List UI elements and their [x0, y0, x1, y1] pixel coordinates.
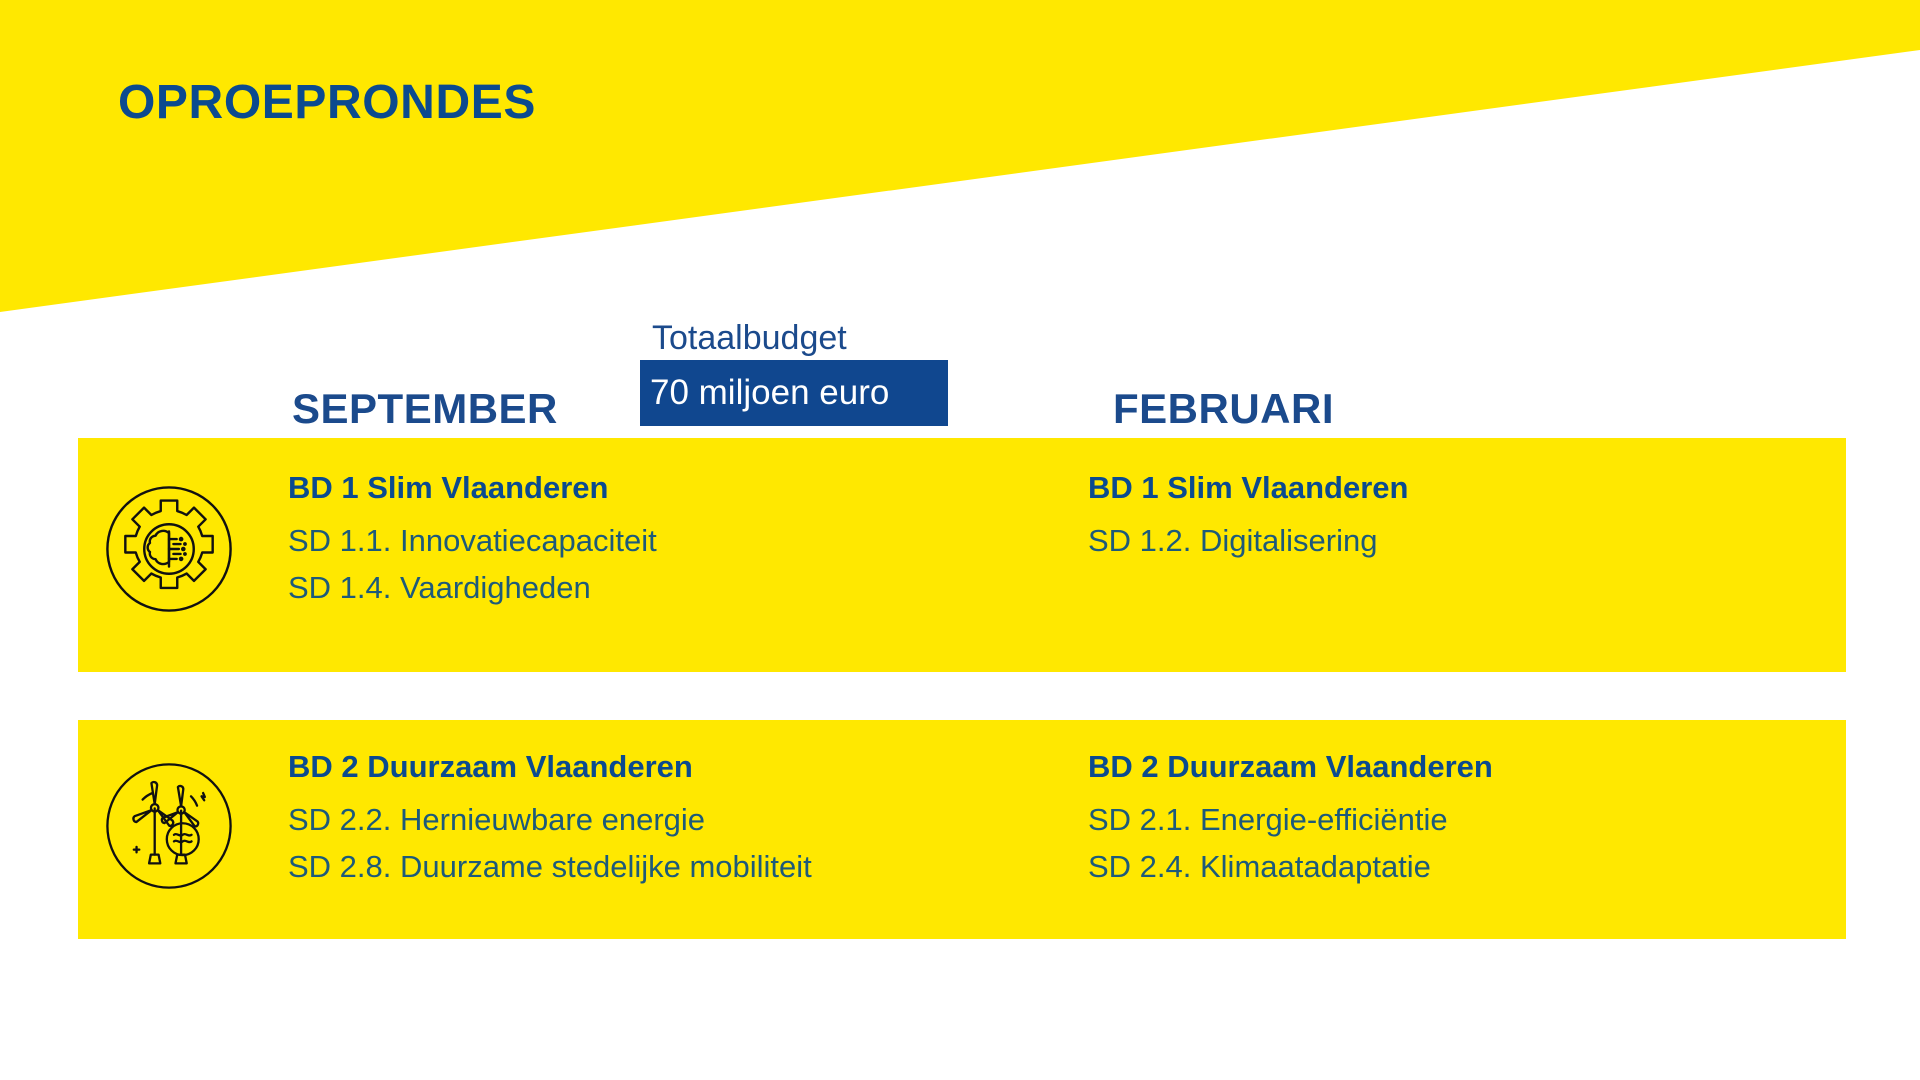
column-header-februari: FEBRUARI [1113, 388, 1334, 430]
card-bd1: BD 1 Slim Vlaanderen SD 1.1. Innovatieca… [78, 438, 1846, 672]
card-bd2-column-september: BD 2 Duurzaam Vlaanderen SD 2.2. Hernieu… [288, 720, 812, 890]
total-budget-block: Totaalbudget 70 miljoen euro [640, 320, 948, 426]
page-title: OPROEPRONDES [118, 79, 536, 127]
total-budget-caption: Totaalbudget [640, 320, 948, 356]
header-banner [0, 0, 1920, 320]
card-bd1-column-september: BD 1 Slim Vlaanderen SD 1.1. Innovatieca… [288, 438, 657, 611]
card-bd1-right-item-0: SD 1.2. Digitalisering [1088, 517, 1408, 564]
yellow-diagonal-shape [0, 0, 1920, 320]
card-bd1-left-title: BD 1 Slim Vlaanderen [288, 471, 657, 506]
card-bd2-right-item-0: SD 2.1. Energie-efficiëntie [1088, 796, 1493, 843]
gear-brain-icon [103, 483, 235, 615]
card-bd2: BD 2 Duurzaam Vlaanderen SD 2.2. Hernieu… [78, 720, 1846, 939]
card-bd2-left-item-1: SD 2.8. Duurzame stedelijke mobiliteit [288, 843, 812, 890]
card-bd1-left-item-0: SD 1.1. Innovatiecapaciteit [288, 517, 657, 564]
total-budget-badge: 70 miljoen euro [640, 360, 948, 426]
card-bd2-right-item-1: SD 2.4. Klimaatadaptatie [1088, 843, 1493, 890]
card-bd2-left-title: BD 2 Duurzaam Vlaanderen [288, 750, 812, 785]
card-bd1-left-item-1: SD 1.4. Vaardigheden [288, 564, 657, 611]
total-budget-amount: 70 miljoen euro [640, 360, 948, 426]
card-bd2-right-title: BD 2 Duurzaam Vlaanderen [1088, 750, 1493, 785]
columns-header: SEPTEMBER Totaalbudget 70 miljoen euro F… [0, 320, 1920, 438]
wind-turbine-icon [103, 760, 235, 892]
card-bd1-right-title: BD 1 Slim Vlaanderen [1088, 471, 1408, 506]
column-header-september: SEPTEMBER [292, 388, 558, 430]
card-bd2-left-item-0: SD 2.2. Hernieuwbare energie [288, 796, 812, 843]
card-bd1-column-februari: BD 1 Slim Vlaanderen SD 1.2. Digitaliser… [1088, 438, 1408, 564]
card-bd2-column-februari: BD 2 Duurzaam Vlaanderen SD 2.1. Energie… [1088, 720, 1493, 890]
